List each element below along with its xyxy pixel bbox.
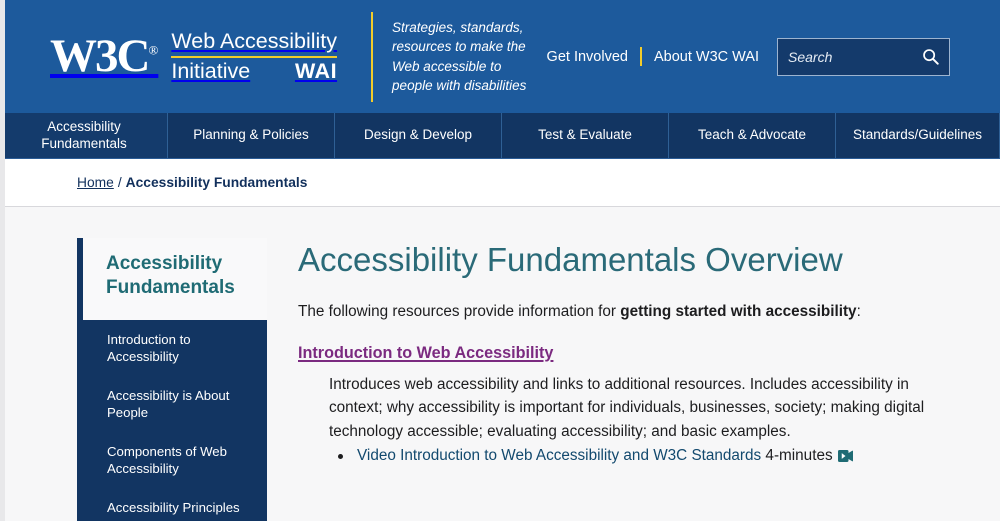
main-content: Accessibility Fundamentals Overview The … (267, 238, 1000, 521)
intro-paragraph: The following resources provide informat… (298, 301, 940, 324)
search-icon (922, 48, 939, 65)
search-box[interactable] (777, 38, 950, 76)
nav-item-teach-advocate[interactable]: Teach & Advocate (669, 113, 836, 158)
brand-line-initiative: Initiative WAI (171, 58, 337, 83)
nav-item-design-develop[interactable]: Design & Develop (335, 113, 502, 158)
list-item: Accessibility Principles (77, 488, 267, 521)
video-introduction-link[interactable]: Video Introduction to Web Accessibility … (357, 447, 761, 464)
sidebar-item-components-of-web-accessibility[interactable]: Components of Web Accessibility (77, 432, 267, 488)
header-divider-rule (371, 12, 373, 102)
primary-navigation: Accessibility Fundamentals Planning & Po… (0, 113, 1000, 159)
intro-text-suffix: : (857, 303, 861, 320)
search-submit-button[interactable] (917, 44, 943, 70)
list-item: Introduction to Accessibility (77, 320, 267, 376)
site-header: W3C® Web Accessibility Initiative WAI St… (0, 0, 1000, 113)
sidebar-navigation: Accessibility Fundamentals Introduction … (77, 238, 267, 521)
header-utility-area: Get Involved About W3C WAI (547, 38, 950, 76)
brand-wai-abbrev: WAI (295, 60, 337, 83)
brand-wordmark: Web Accessibility Initiative WAI (171, 30, 337, 82)
intro-text-bold: getting started with accessibility (620, 303, 856, 320)
nav-item-accessibility-fundamentals[interactable]: Accessibility Fundamentals (0, 113, 168, 158)
page-root: W3C® Web Accessibility Initiative WAI St… (0, 0, 1000, 521)
breadcrumb-separator: / (118, 175, 122, 190)
w3c-wai-logo-link[interactable]: W3C® Web Accessibility Initiative WAI (50, 30, 337, 82)
breadcrumb-home-link[interactable]: Home (77, 175, 114, 190)
registered-trademark-icon: ® (148, 42, 158, 57)
nav-item-test-evaluate[interactable]: Test & Evaluate (502, 113, 669, 158)
w3c-logo-mark: W3C® (50, 33, 160, 80)
intro-text-prefix: The following resources provide informat… (298, 303, 620, 320)
video-duration-label: 4-minutes (761, 447, 832, 464)
sidebar-header: Accessibility Fundamentals (77, 238, 267, 320)
video-play-icon (838, 447, 853, 470)
sidebar-item-accessibility-is-about-people[interactable]: Accessibility is About People (77, 376, 267, 432)
list-item: Components of Web Accessibility (77, 432, 267, 488)
page-left-gutter (0, 0, 5, 521)
nav-item-standards-guidelines[interactable]: Standards/Guidelines (836, 113, 1000, 158)
site-tagline: Strategies, standards, resources to make… (392, 18, 544, 96)
about-w3c-wai-link[interactable]: About W3C WAI (654, 49, 759, 65)
header-link-separator (640, 47, 642, 66)
list-item: Accessibility is About People (77, 376, 267, 432)
nav-item-planning-policies[interactable]: Planning & Policies (168, 113, 335, 158)
sidebar-item-introduction-to-accessibility[interactable]: Introduction to Accessibility (77, 320, 267, 376)
list-item: Video Introduction to Web Accessibility … (329, 445, 940, 470)
sidebar-item-accessibility-principles[interactable]: Accessibility Principles (77, 488, 267, 521)
sidebar-title: Accessibility Fundamentals (106, 252, 257, 301)
page-title: Accessibility Fundamentals Overview (298, 238, 940, 281)
brand-initiative-text: Initiative (171, 60, 250, 83)
content-area: Accessibility Fundamentals Introduction … (0, 207, 1000, 521)
w3c-logo-text: W3C (50, 30, 148, 82)
get-involved-link[interactable]: Get Involved (547, 49, 628, 65)
breadcrumb-current-page: Accessibility Fundamentals (126, 175, 308, 190)
sidebar-list: Introduction to Accessibility Accessibil… (77, 320, 267, 521)
brand-line-web-accessibility: Web Accessibility (171, 30, 337, 57)
resource-link-introduction-to-web-accessibility[interactable]: Introduction to Web Accessibility (298, 344, 553, 363)
resource-bullet-list: Video Introduction to Web Accessibility … (298, 445, 940, 470)
resource-description: Introduces web accessibility and links t… (298, 373, 940, 443)
breadcrumb: Home / Accessibility Fundamentals (0, 159, 1000, 207)
